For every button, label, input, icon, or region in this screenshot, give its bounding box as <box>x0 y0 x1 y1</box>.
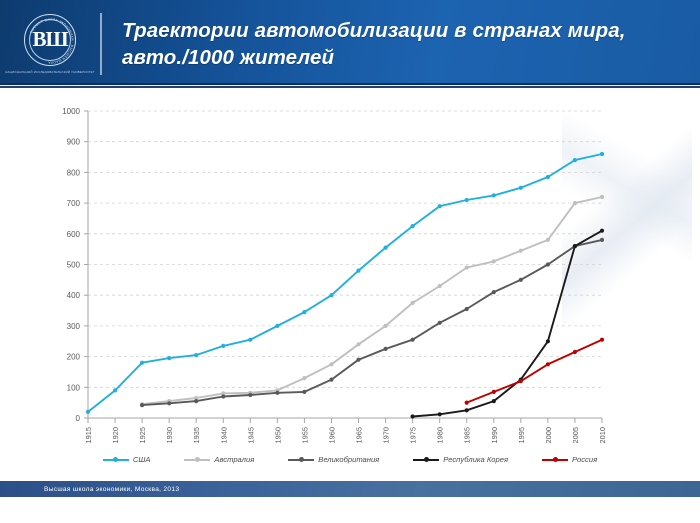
series-point <box>573 201 577 205</box>
x-axis-tick-label: 1945 <box>246 427 255 443</box>
series-2 <box>140 195 604 406</box>
logo-caption: НАЦИОНАЛЬНЫЙ ИССЛЕДОВАТЕЛЬСКИЙ УНИВЕРСИТ… <box>4 70 96 74</box>
x-axis-tick-label: 1920 <box>111 427 120 443</box>
y-axis-tick-label: 700 <box>67 199 81 208</box>
series-point <box>221 394 225 398</box>
series-point <box>492 193 496 197</box>
page-title: Траектории автомобилизации в странах мир… <box>102 17 700 71</box>
series-point <box>600 152 604 156</box>
y-axis-tick-label: 600 <box>67 230 81 239</box>
series-point <box>492 259 496 263</box>
hse-logo-emblem-icon: ВЫСШАЯ ШКОЛА ЭКОНОМИКИ · ВЫСШАЯ ШКОЛА · … <box>24 14 76 66</box>
x-axis-tick-label: 1960 <box>327 427 336 443</box>
legend-item[interactable]: Австралия <box>184 455 254 464</box>
series-point <box>140 361 144 365</box>
series-5 <box>465 338 605 405</box>
footer-bottom-strip <box>0 497 700 523</box>
x-axis-tick-label: 1970 <box>382 427 391 443</box>
series-point <box>546 339 550 343</box>
legend-item[interactable]: Великобритания <box>288 455 379 464</box>
series-point <box>411 414 415 418</box>
legend-item[interactable]: Республика Корея <box>413 455 508 464</box>
x-axis-tick-label: 2005 <box>571 427 580 443</box>
series-point <box>384 347 388 351</box>
legend-swatch-icon <box>413 455 439 464</box>
series-point <box>600 338 604 342</box>
series-point <box>411 301 415 305</box>
series-point <box>465 408 469 412</box>
series-point <box>465 266 469 270</box>
legend-swatch-icon <box>542 455 568 464</box>
y-axis-tick-label: 900 <box>67 138 81 147</box>
series-point <box>492 290 496 294</box>
slide-footer: Высшая школа экономики, Москва, 2013 <box>0 481 700 497</box>
line-chart: 0100200300400500600700800900100019151920… <box>0 93 700 483</box>
slide-header: ВЫСШАЯ ШКОЛА ЭКОНОМИКИ · ВЫСШАЯ ШКОЛА · … <box>0 0 700 88</box>
x-axis-tick-label: 1930 <box>165 427 174 443</box>
y-axis-tick-label: 500 <box>67 261 81 270</box>
series-point <box>356 269 360 273</box>
series-point <box>356 342 360 346</box>
series-point <box>248 393 252 397</box>
legend-item[interactable]: США <box>103 455 151 464</box>
legend-item-label: Австралия <box>214 455 254 464</box>
series-point <box>600 195 604 199</box>
y-axis-tick-label: 1000 <box>62 107 80 116</box>
legend-item-label: Великобритания <box>318 455 379 464</box>
series-point <box>573 158 577 162</box>
series-line <box>467 340 602 403</box>
x-axis-tick-label: 1985 <box>463 427 472 443</box>
series-3 <box>140 238 604 407</box>
series-point <box>465 307 469 311</box>
x-axis-tick-label: 1950 <box>273 427 282 443</box>
series-point <box>275 391 279 395</box>
series-point <box>356 358 360 362</box>
series-point <box>302 310 306 314</box>
series-point <box>465 401 469 405</box>
series-point <box>302 390 306 394</box>
footer-text: Высшая школа экономики, Москва, 2013 <box>0 486 179 493</box>
series-point <box>492 399 496 403</box>
series-point <box>546 262 550 266</box>
y-axis-tick-label: 400 <box>67 291 81 300</box>
series-point <box>329 378 333 382</box>
chart-legend: СШААвстралияВеликобританияРеспублика Кор… <box>0 455 700 464</box>
series-point <box>329 362 333 366</box>
chart-container: 0100200300400500600700800900100019151920… <box>0 93 700 483</box>
series-point <box>275 324 279 328</box>
series-point <box>438 204 442 208</box>
legend-item-label: Республика Корея <box>443 455 508 464</box>
series-point <box>302 376 306 380</box>
series-point <box>492 390 496 394</box>
x-axis-tick-label: 1995 <box>517 427 526 443</box>
x-axis-tick-label: 1975 <box>409 427 418 443</box>
series-point <box>438 321 442 325</box>
x-axis-tick-label: 2010 <box>598 427 607 443</box>
series-point <box>465 198 469 202</box>
y-axis-tick-label: 800 <box>67 168 81 177</box>
legend-item[interactable]: Россия <box>542 455 597 464</box>
series-point <box>248 338 252 342</box>
y-axis-tick-label: 0 <box>76 414 81 423</box>
series-point <box>519 186 523 190</box>
series-point <box>573 350 577 354</box>
x-axis-tick-label: 1990 <box>490 427 499 443</box>
legend-swatch-icon <box>184 455 210 464</box>
series-point <box>384 246 388 250</box>
y-axis-tick-label: 200 <box>67 353 81 362</box>
series-point <box>411 338 415 342</box>
legend-item-label: США <box>133 455 151 464</box>
series-1 <box>86 152 604 414</box>
x-axis-tick-label: 1935 <box>192 427 201 443</box>
series-point <box>600 238 604 242</box>
series-point <box>113 388 117 392</box>
x-axis-tick-label: 1980 <box>436 427 445 443</box>
series-point <box>546 238 550 242</box>
series-point <box>194 353 198 357</box>
series-point <box>519 379 523 383</box>
series-point <box>546 362 550 366</box>
slide: ВЫСШАЯ ШКОЛА ЭКОНОМИКИ · ВЫСШАЯ ШКОЛА · … <box>0 0 700 523</box>
x-axis-tick-label: 1915 <box>84 427 93 443</box>
logo-monogram: ВШ <box>32 29 67 50</box>
series-point <box>519 278 523 282</box>
series-point <box>329 293 333 297</box>
x-axis-tick-label: 1955 <box>300 427 309 443</box>
legend-item-label: Россия <box>572 455 597 464</box>
series-point <box>86 410 90 414</box>
series-point <box>438 412 442 416</box>
series-point <box>573 244 577 248</box>
x-axis-tick-label: 1925 <box>138 427 147 443</box>
y-axis-tick-label: 100 <box>67 383 81 392</box>
x-axis-tick-label: 2000 <box>544 427 553 443</box>
series-point <box>438 284 442 288</box>
series-point <box>600 229 604 233</box>
series-point <box>411 224 415 228</box>
series-point <box>546 175 550 179</box>
x-axis-tick-label: 1940 <box>219 427 228 443</box>
series-point <box>167 401 171 405</box>
x-axis-tick-label: 1965 <box>355 427 364 443</box>
legend-swatch-icon <box>288 455 314 464</box>
series-point <box>221 344 225 348</box>
series-point <box>140 403 144 407</box>
hse-logo: ВЫСШАЯ ШКОЛА ЭКОНОМИКИ · ВЫСШАЯ ШКОЛА · … <box>0 0 100 88</box>
y-axis-tick-label: 300 <box>67 322 81 331</box>
legend-swatch-icon <box>103 455 129 464</box>
series-point <box>167 356 171 360</box>
series-point <box>519 249 523 253</box>
series-point <box>384 324 388 328</box>
series-point <box>194 399 198 403</box>
